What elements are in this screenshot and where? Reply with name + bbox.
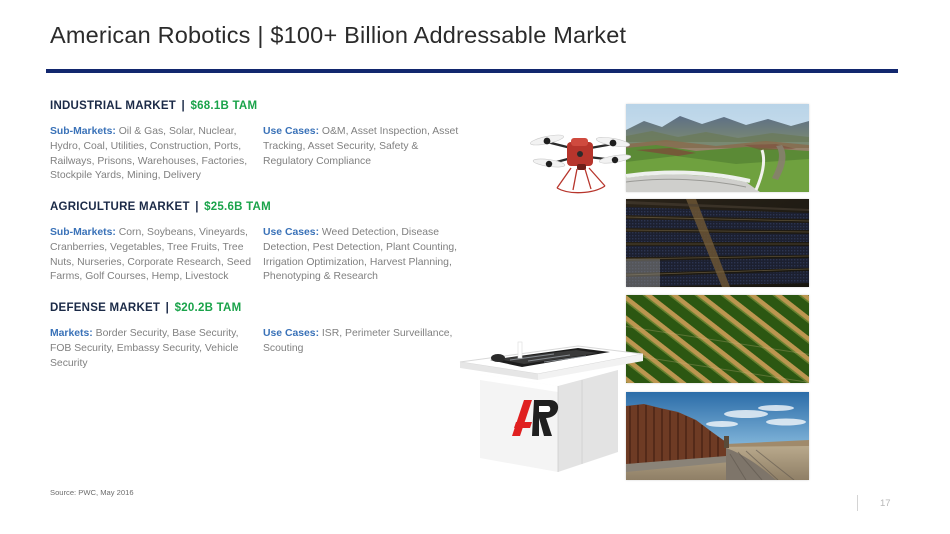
market-markets-defense: Markets: Border Security, Base Security,… [50,327,263,371]
crop-rows-photo [626,295,809,383]
border-wall-graphic [626,392,809,480]
markets-label: Markets: [50,328,93,339]
crop-rows-graphic [626,295,809,383]
market-separator: | [164,302,171,314]
presentation-slide: American Robotics | $100+ Billion Addres… [0,0,950,534]
market-usecases-defense: Use Cases: ISR, Perimeter Surveillance, … [263,327,468,371]
market-name: INDUSTRIAL MARKET [50,100,176,112]
page-title: American Robotics | $100+ Billion Addres… [50,22,626,49]
market-name: AGRICULTURE MARKET [50,201,190,213]
market-separator: | [180,100,187,112]
submarkets-label: Sub-Markets: [50,227,116,238]
market-usecases-industrial: Use Cases: O&M, Asset Inspection, Asset … [263,125,468,184]
market-submarkets-industrial: Sub-Markets: Oil & Gas, Solar, Nuclear, … [50,125,263,184]
quadcopter-drone-graphic [521,118,639,200]
market-block-defense: DEFENSE MARKET | $20.2B TAM Markets: Bor… [50,302,470,371]
market-separator: | [193,201,200,213]
solar-farm-photo [626,199,809,287]
usecases-label: Use Cases: [263,227,319,238]
market-tam-value: $20.2B TAM [175,302,242,314]
quadcopter-drone-illustration [521,118,639,200]
submarkets-label: Sub-Markets: [50,126,116,137]
pipeline-landscape-photo [626,104,809,192]
usecases-label: Use Cases: [263,126,319,137]
market-tam-value: $68.1B TAM [190,100,257,112]
market-heading-industrial: INDUSTRIAL MARKET | $68.1B TAM [50,100,470,112]
pipeline-landscape-graphic [626,104,809,192]
market-block-industrial: INDUSTRIAL MARKET | $68.1B TAM Sub-Marke… [50,100,470,184]
source-note: Source: PWC, May 2016 [50,488,134,497]
page-number: 17 [880,498,891,509]
title-divider-rule [46,69,898,73]
markets-list: INDUSTRIAL MARKET | $68.1B TAM Sub-Marke… [50,100,470,388]
market-name: DEFENSE MARKET [50,302,160,314]
market-usecases-agriculture: Use Cases: Weed Detection, Disease Detec… [263,226,468,285]
solar-farm-graphic [626,199,809,287]
market-heading-agriculture: AGRICULTURE MARKET | $25.6B TAM [50,201,470,213]
market-block-agriculture: AGRICULTURE MARKET | $25.6B TAM Sub-Mark… [50,201,470,285]
page-number-divider [857,495,858,511]
ar-base-station-graphic [458,340,643,480]
usecases-label: Use Cases: [263,328,319,339]
market-submarkets-agriculture: Sub-Markets: Corn, Soybeans, Vineyards, … [50,226,263,285]
border-wall-photo [626,392,809,480]
ar-base-station-illustration [458,340,643,480]
market-heading-defense: DEFENSE MARKET | $20.2B TAM [50,302,470,314]
market-tam-value: $25.6B TAM [204,201,271,213]
